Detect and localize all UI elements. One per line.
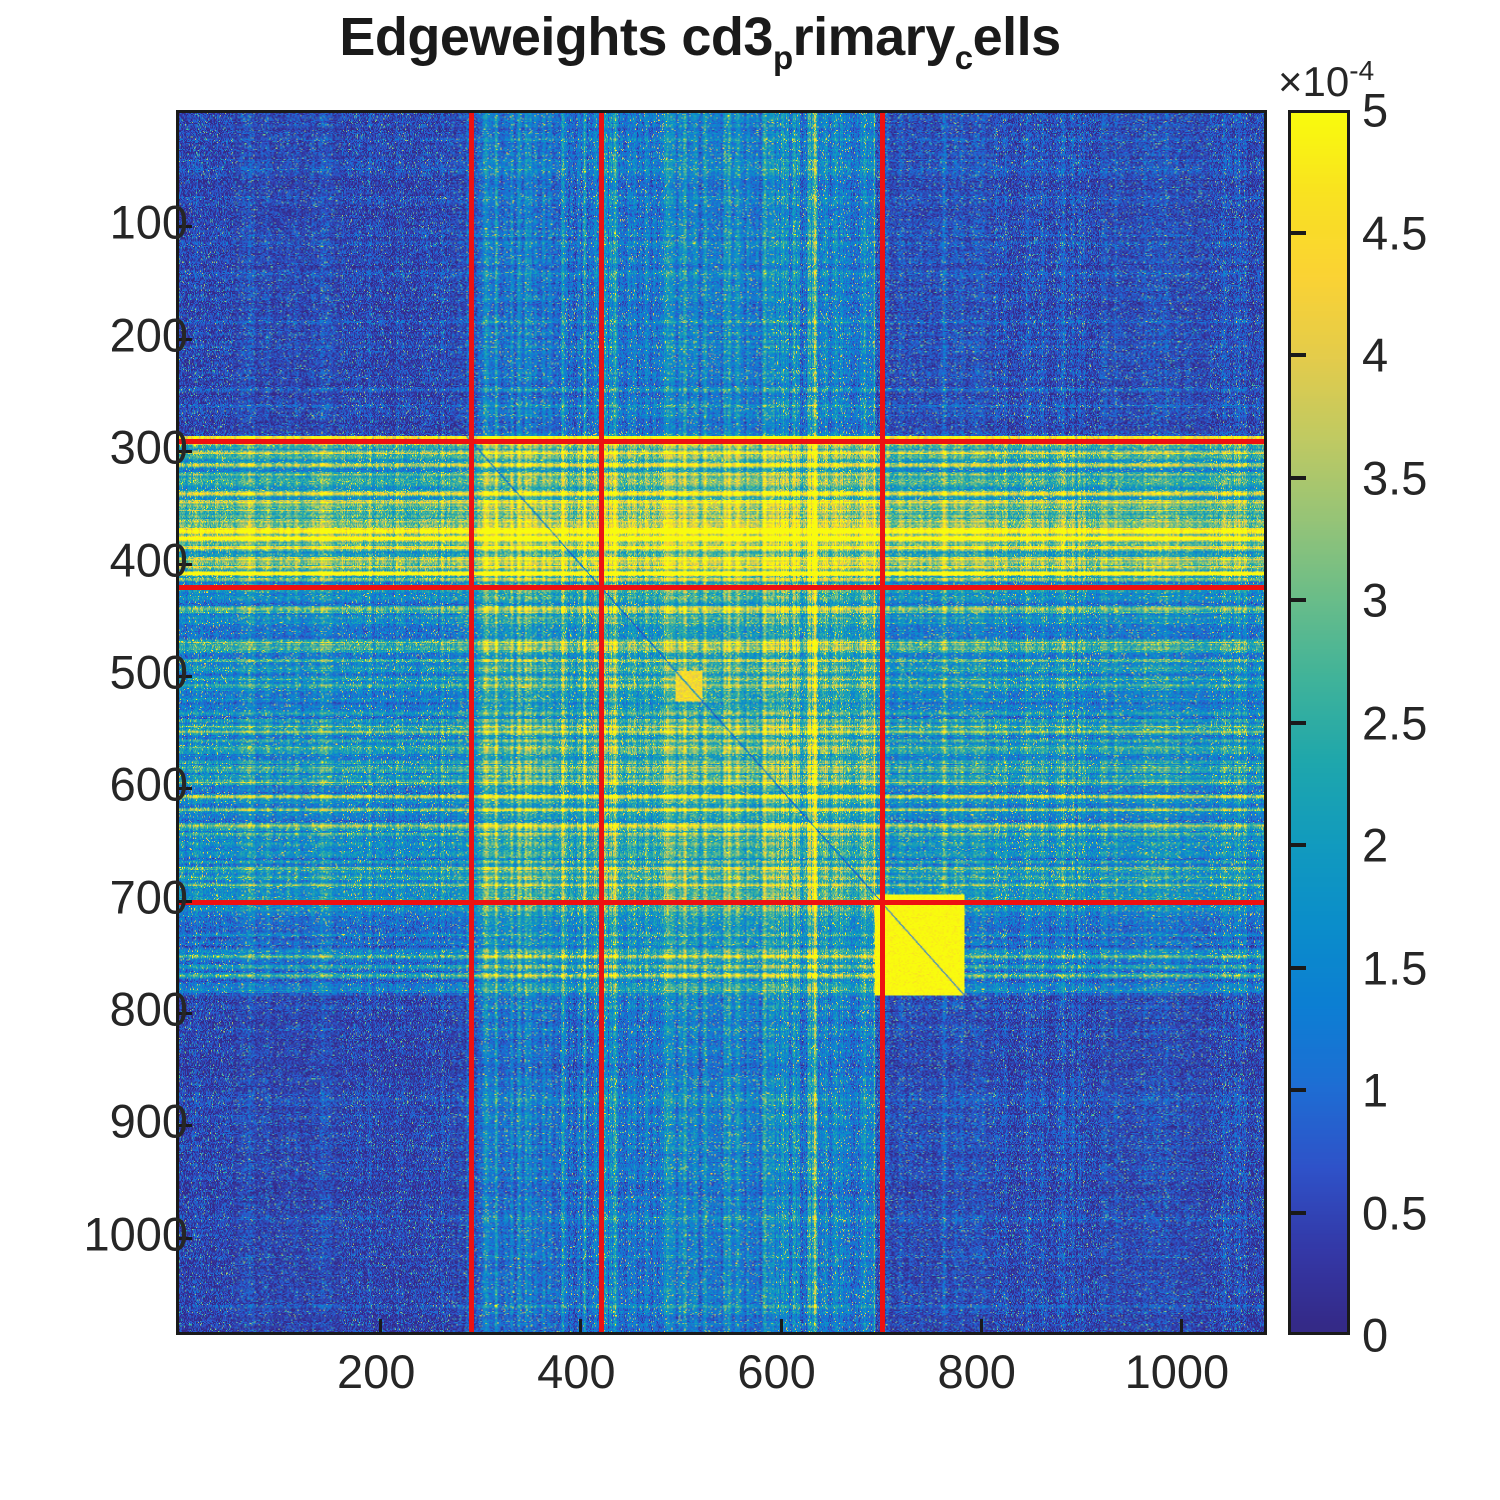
y-tick-label-800: 800 bbox=[110, 982, 188, 1037]
y-tick-label-1000: 1000 bbox=[83, 1206, 188, 1261]
heatmap-axes[interactable] bbox=[176, 110, 1267, 1335]
x-tick-label-1000: 1000 bbox=[1125, 1344, 1230, 1399]
colorbar-tick-mark-3.5 bbox=[1288, 476, 1306, 480]
x-tick-label-400: 400 bbox=[537, 1344, 615, 1399]
colorbar-exponent-label: ×10-4 bbox=[1278, 55, 1374, 106]
x-tick-label-200: 200 bbox=[337, 1344, 415, 1399]
colorbar-exp-base: ×10 bbox=[1278, 58, 1349, 105]
colorbar-tick-label-3: 3 bbox=[1362, 573, 1388, 628]
y-tick-label-300: 300 bbox=[110, 420, 188, 475]
colorbar-tick-mark-3 bbox=[1288, 598, 1306, 602]
colorbar-tick-label-0.5: 0.5 bbox=[1362, 1185, 1427, 1240]
y-tick-label-700: 700 bbox=[110, 869, 188, 924]
heatmap-image bbox=[179, 113, 1264, 1332]
title-suffix: ells bbox=[973, 7, 1061, 67]
y-tick-label-900: 900 bbox=[110, 1094, 188, 1149]
colorbar-tick-label-1: 1 bbox=[1362, 1063, 1388, 1118]
colorbar-tick-label-5: 5 bbox=[1362, 83, 1388, 138]
cluster-separator-horizontal-420 bbox=[179, 585, 1264, 590]
colorbar-tick-label-4: 4 bbox=[1362, 328, 1388, 383]
page-title: Edgeweights cd3primarycells bbox=[0, 6, 1400, 77]
x-tick-label-600: 600 bbox=[737, 1344, 815, 1399]
x-tick-label-800: 800 bbox=[938, 1344, 1016, 1399]
cluster-separator-vertical-420 bbox=[599, 113, 604, 1332]
y-tick-label-400: 400 bbox=[110, 532, 188, 587]
x-tick-mark-800 bbox=[980, 1319, 983, 1332]
cluster-separator-vertical-290 bbox=[469, 113, 474, 1332]
colorbar-tick-label-3.5: 3.5 bbox=[1362, 450, 1427, 505]
x-tick-mark-1000 bbox=[1180, 1319, 1183, 1332]
y-tick-label-100: 100 bbox=[110, 195, 188, 250]
colorbar-tick-mark-4 bbox=[1288, 353, 1306, 357]
cluster-separator-vertical-700 bbox=[880, 113, 885, 1332]
cluster-separator-horizontal-290 bbox=[179, 439, 1264, 444]
y-tick-label-600: 600 bbox=[110, 757, 188, 812]
cluster-separator-horizontal-700 bbox=[179, 900, 1264, 905]
y-tick-label-500: 500 bbox=[110, 644, 188, 699]
colorbar-tick-mark-0.5 bbox=[1288, 1211, 1306, 1215]
title-mid: rimary bbox=[793, 7, 955, 67]
colorbar-tick-mark-2 bbox=[1288, 843, 1306, 847]
y-tick-label-200: 200 bbox=[110, 307, 188, 362]
x-tick-mark-600 bbox=[780, 1319, 783, 1332]
colorbar-tick-mark-1 bbox=[1288, 1088, 1306, 1092]
colorbar-tick-mark-1.5 bbox=[1288, 966, 1306, 970]
colorbar-tick-label-2: 2 bbox=[1362, 818, 1388, 873]
colorbar-tick-label-4.5: 4.5 bbox=[1362, 205, 1427, 260]
title-prefix: Edgeweights cd3 bbox=[339, 7, 773, 67]
colorbar-tick-label-2.5: 2.5 bbox=[1362, 695, 1427, 750]
title-subscript-p: p bbox=[773, 39, 793, 76]
colorbar-tick-label-1.5: 1.5 bbox=[1362, 940, 1427, 995]
colorbar-tick-mark-4.5 bbox=[1288, 231, 1306, 235]
colorbar-tick-mark-2.5 bbox=[1288, 721, 1306, 725]
x-tick-mark-400 bbox=[579, 1319, 582, 1332]
x-tick-mark-200 bbox=[379, 1319, 382, 1332]
colorbar-exp-power: -4 bbox=[1349, 55, 1374, 86]
title-subscript-c: c bbox=[955, 39, 973, 76]
colorbar-tick-label-0: 0 bbox=[1362, 1308, 1388, 1363]
